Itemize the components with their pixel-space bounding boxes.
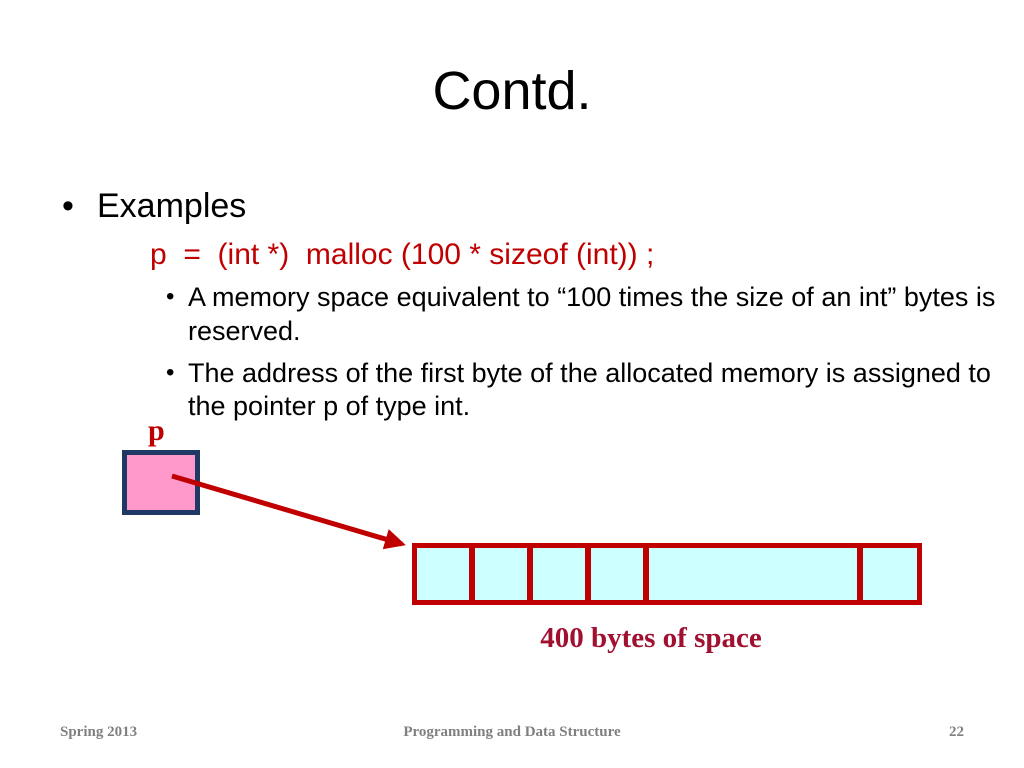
bullet-glyph-icon: • [62, 186, 74, 226]
bullet-level1: • Examples [0, 186, 1024, 226]
memory-size-caption: 400 bytes of space [412, 622, 890, 655]
memory-cell [533, 548, 585, 600]
pointer-variable-box [122, 450, 200, 515]
bullet-level2-label: The address of the first byte of the all… [188, 357, 1024, 425]
footer-course-title: Programming and Data Structure [0, 724, 1024, 741]
bullet-level2-first: • A memory space equivalent to “100 time… [0, 281, 1024, 349]
bullet-level2-label: A memory space equivalent to “100 times … [188, 281, 1024, 349]
bullet-glyph-icon: • [166, 281, 174, 313]
memory-block [412, 543, 922, 605]
slide-canvas: Contd. • Examples p = (int *) malloc (10… [0, 0, 1024, 768]
memory-cell [475, 548, 527, 600]
code-statement: p = (int *) malloc (100 * sizeof (int)) … [0, 237, 1024, 273]
slide-footer: Spring 2013 Programming and Data Structu… [0, 718, 1024, 752]
memory-cell-wide [649, 548, 857, 600]
memory-cell [863, 548, 917, 600]
bullet-glyph-icon: • [166, 357, 174, 389]
pointer-variable-label: p [148, 416, 165, 446]
footer-page-number: 22 [949, 724, 964, 741]
page-title: Contd. [0, 62, 1024, 121]
slide-body: • Examples p = (int *) malloc (100 * siz… [0, 186, 1024, 424]
memory-cell [417, 548, 469, 600]
bullet-level1-label: Examples [97, 187, 246, 225]
memory-cell [591, 548, 643, 600]
